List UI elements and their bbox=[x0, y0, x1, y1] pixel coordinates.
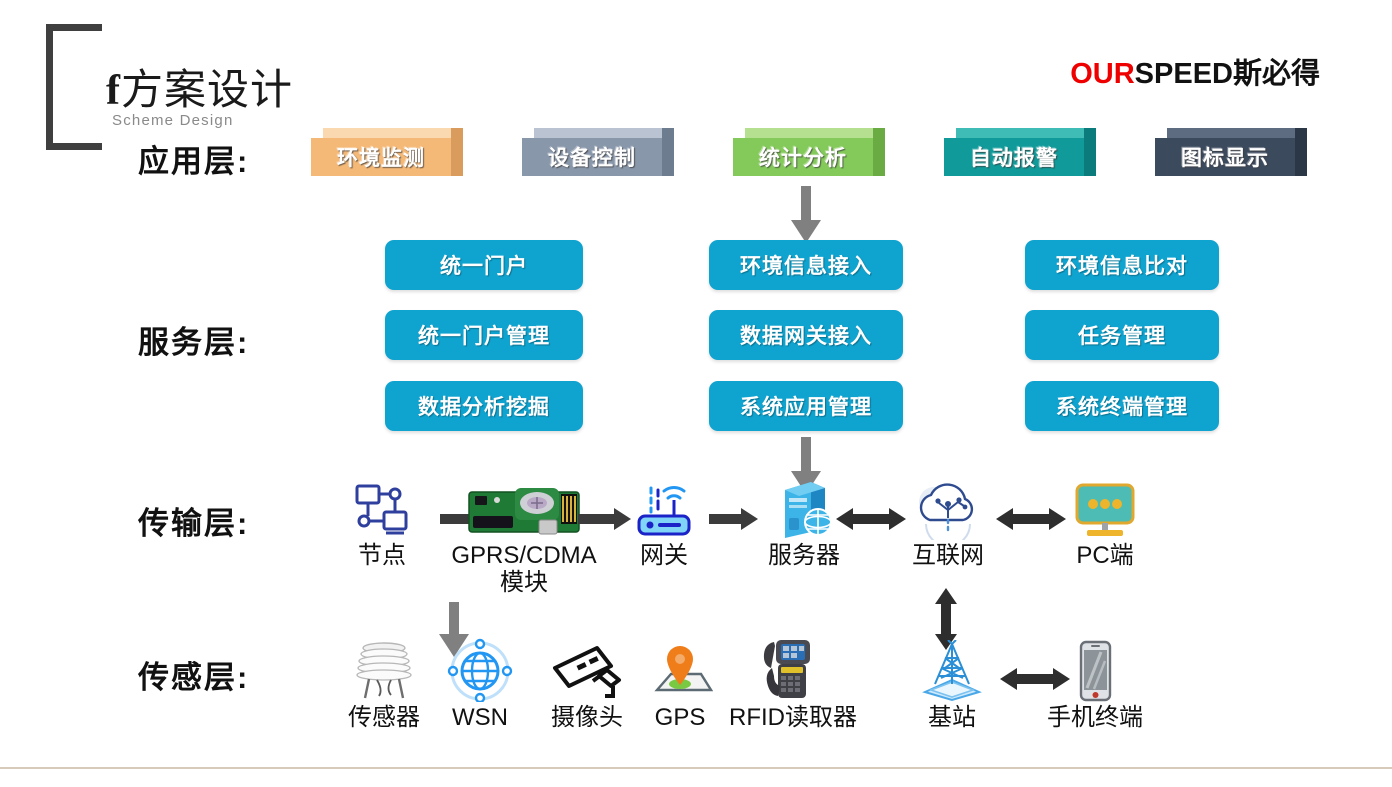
arrow-bidirectional-server-internet bbox=[836, 506, 906, 532]
service-pill-system-application-management[interactable]: 系统应用管理 bbox=[709, 381, 903, 431]
layer-label-sensing: 传感层: bbox=[138, 652, 249, 697]
layer-label-service: 服务层: bbox=[138, 317, 249, 362]
node-label: GPRS/CDMA模块 bbox=[434, 543, 614, 597]
box-side-face bbox=[1295, 128, 1307, 176]
service-pill-label: 数据网关接入 bbox=[740, 320, 872, 350]
service-pill-environment-info-access[interactable]: 环境信息接入 bbox=[709, 240, 903, 290]
node-label: WSN bbox=[437, 705, 523, 732]
brand-logo: OURSPEED斯必得 bbox=[1070, 50, 1320, 92]
layer-label-application: 应用层: bbox=[138, 136, 249, 181]
box-top-face bbox=[323, 128, 463, 138]
node-mobile-terminal[interactable]: 手机终端 bbox=[1040, 640, 1150, 732]
node-pc-terminal[interactable]: PC端 bbox=[1055, 478, 1155, 570]
node-label: 手机终端 bbox=[1040, 705, 1150, 732]
box-side-face bbox=[873, 128, 885, 176]
app-box-label: 环境监测 bbox=[337, 142, 425, 172]
layer-label-transport: 传输层: bbox=[138, 498, 249, 543]
page-subtitle: Scheme Design bbox=[112, 112, 234, 129]
node-label: 基站 bbox=[902, 705, 1002, 732]
rfid-reader-icon bbox=[718, 640, 868, 702]
brand-rest: SPEED斯必得 bbox=[1135, 58, 1320, 90]
service-pill-label: 环境信息接入 bbox=[740, 250, 872, 280]
desktop-monitor-icon bbox=[1055, 478, 1155, 540]
node-label-line1: GPRS/CDMA bbox=[451, 542, 596, 569]
bracket-frame-icon bbox=[46, 24, 102, 150]
box-top-face bbox=[956, 128, 1096, 138]
service-pill-data-analysis-mining[interactable]: 数据分析挖掘 bbox=[385, 381, 583, 431]
node-base-station[interactable]: 基站 bbox=[902, 640, 1002, 732]
node-internet[interactable]: 互联网 bbox=[898, 478, 998, 570]
weather-sensor-icon bbox=[332, 640, 436, 702]
arrow-right-gateway-to-server bbox=[709, 508, 759, 530]
gps-pin-icon bbox=[640, 640, 720, 702]
app-box-label: 统计分析 bbox=[759, 142, 847, 172]
service-pill-label: 环境信息比对 bbox=[1056, 250, 1188, 280]
service-pill-unified-portal[interactable]: 统一门户 bbox=[385, 240, 583, 290]
title-block: f方案设计 Scheme Design bbox=[46, 24, 346, 150]
app-box-label: 图标显示 bbox=[1181, 142, 1269, 172]
node-rfid-reader[interactable]: RFID读取器 bbox=[718, 640, 868, 732]
node-label: RFID读取器 bbox=[718, 705, 868, 732]
node-label: 摄像头 bbox=[537, 705, 637, 732]
node-wsn[interactable]: WSN bbox=[437, 640, 523, 732]
box-side-face bbox=[662, 128, 674, 176]
service-pill-label: 任务管理 bbox=[1078, 320, 1166, 350]
service-pill-label: 统一门户管理 bbox=[418, 320, 550, 350]
base-station-icon bbox=[902, 640, 1002, 702]
camera-icon bbox=[537, 640, 637, 702]
network-node-icon bbox=[330, 478, 434, 540]
box-top-face bbox=[1167, 128, 1307, 138]
brand-highlight: OUR bbox=[1070, 58, 1134, 90]
service-pill-system-terminal-management[interactable]: 系统终端管理 bbox=[1025, 381, 1219, 431]
arrow-down-analysis-to-service bbox=[790, 186, 822, 244]
service-pill-label: 系统终端管理 bbox=[1056, 391, 1188, 421]
box-side-face bbox=[1084, 128, 1096, 176]
router-gateway-icon bbox=[616, 478, 712, 540]
service-pill-label: 系统应用管理 bbox=[740, 391, 872, 421]
node-label: 网关 bbox=[616, 543, 712, 570]
node-label: GPS bbox=[640, 705, 720, 732]
node-gps[interactable]: GPS bbox=[640, 640, 720, 732]
service-pill-environment-info-compare[interactable]: 环境信息比对 bbox=[1025, 240, 1219, 290]
bottom-divider bbox=[0, 767, 1392, 769]
app-box-icon-display[interactable]: 图标显示 bbox=[1155, 128, 1307, 176]
node-label: PC端 bbox=[1055, 543, 1155, 570]
service-pill-unified-portal-management[interactable]: 统一门户管理 bbox=[385, 310, 583, 360]
node-camera[interactable]: 摄像头 bbox=[537, 640, 637, 732]
node-gprs-cdma-module[interactable]: GPRS/CDMA模块 bbox=[434, 478, 614, 597]
app-box-device-control[interactable]: 设备控制 bbox=[522, 128, 674, 176]
box-side-face bbox=[451, 128, 463, 176]
box-top-face bbox=[745, 128, 885, 138]
cloud-internet-icon bbox=[898, 478, 998, 540]
node-label: 传感器 bbox=[332, 705, 436, 732]
node-sensor-node[interactable]: 节点 bbox=[330, 478, 434, 570]
node-gateway[interactable]: 网关 bbox=[616, 478, 712, 570]
app-box-label: 自动报警 bbox=[970, 142, 1058, 172]
service-pill-data-gateway-access[interactable]: 数据网关接入 bbox=[709, 310, 903, 360]
mobile-phone-icon bbox=[1040, 640, 1150, 702]
service-pill-task-management[interactable]: 任务管理 bbox=[1025, 310, 1219, 360]
node-label: 互联网 bbox=[898, 543, 998, 570]
box-top-face bbox=[534, 128, 674, 138]
app-box-auto-alarm[interactable]: 自动报警 bbox=[944, 128, 1096, 176]
app-box-label: 设备控制 bbox=[548, 142, 636, 172]
service-pill-label: 数据分析挖掘 bbox=[418, 391, 550, 421]
title-chinese: 方案设计 bbox=[121, 68, 293, 114]
node-label: 服务器 bbox=[754, 543, 854, 570]
node-sensor[interactable]: 传感器 bbox=[332, 640, 436, 732]
service-pill-label: 统一门户 bbox=[440, 250, 528, 280]
app-box-statistical-analysis[interactable]: 统计分析 bbox=[733, 128, 885, 176]
node-label: 节点 bbox=[330, 543, 434, 570]
globe-wsn-icon bbox=[437, 640, 523, 702]
node-label-line2: 模块 bbox=[500, 569, 548, 596]
title-f-letter: f bbox=[106, 68, 121, 114]
page-title: f方案设计 bbox=[106, 56, 293, 117]
app-box-environment-monitoring[interactable]: 环境监测 bbox=[311, 128, 463, 176]
